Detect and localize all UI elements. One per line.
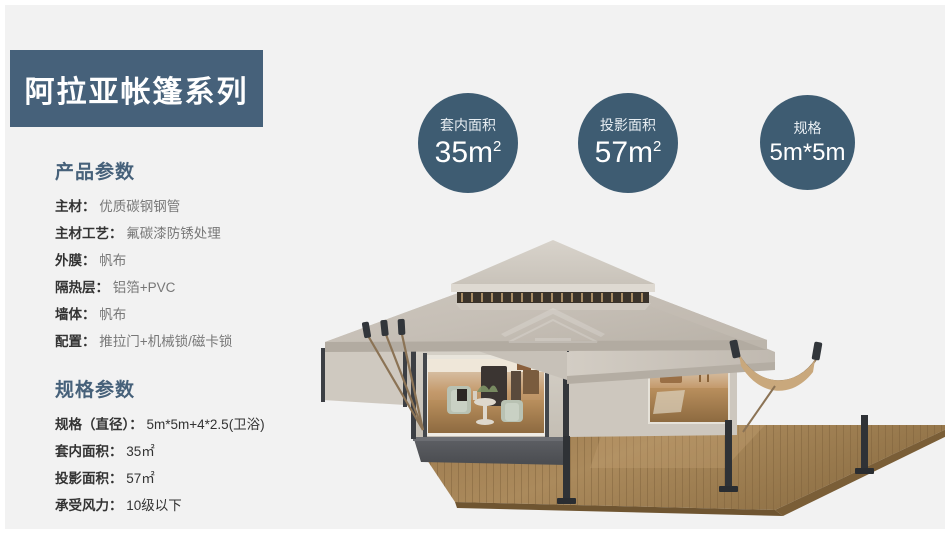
stat-badge-value: 57m2: [595, 138, 662, 168]
spec-label: 主材：: [55, 199, 96, 214]
spec-value: 帆布: [99, 307, 126, 322]
stat-badge-value: 35m2: [435, 138, 502, 168]
roof-vent-tier: [451, 240, 655, 310]
spec-value: 氟碳漆防锈处理: [126, 226, 221, 241]
spec-value: 推拉门+机械锁/磁卡锁: [99, 334, 232, 349]
stat-badge-value: 5m*5m: [769, 141, 845, 165]
spec-label: 外膜：: [55, 253, 96, 268]
spec-label: 规格（直径）：: [55, 417, 143, 432]
spec-label: 承受风力：: [55, 498, 123, 513]
stat-value-number: 5m*5m: [769, 139, 845, 166]
spec-value: 铝箔+PVC: [113, 280, 176, 295]
spec-label: 配置：: [55, 334, 96, 349]
spec-value: 10级以下: [126, 498, 182, 513]
stone-base: [413, 436, 567, 465]
stat-value-unit: m: [628, 136, 653, 169]
stat-badge-label: 规格: [794, 121, 822, 135]
spec-label: 隔热层：: [55, 280, 109, 295]
stat-badge-label: 套内面积: [440, 118, 496, 132]
spec-label: 套内面积：: [55, 444, 123, 459]
stat-value-exponent: 2: [653, 138, 661, 155]
spec-value: 帆布: [99, 253, 126, 268]
stat-value-number: 57: [595, 136, 628, 169]
tent-illustration: [305, 240, 950, 520]
spec-value: 优质碳钢钢管: [99, 199, 180, 214]
stat-value-number: 35: [435, 136, 468, 169]
spec-row: 主材： 优质碳钢钢管: [55, 193, 355, 220]
stat-badge-size: 规格 5m*5m: [760, 95, 855, 190]
spec-value: 57㎡: [126, 471, 155, 486]
spec-label: 主材工艺：: [55, 226, 123, 241]
product-params-heading: 产品参数: [55, 157, 355, 184]
spec-label: 投影面积：: [55, 471, 123, 486]
page-title-banner: 阿拉亚帐篷系列: [10, 50, 263, 127]
spec-value: 5m*5m+4*2.5(卫浴): [147, 417, 265, 432]
stat-badge-label: 投影面积: [600, 118, 656, 132]
page-title: 阿拉亚帐篷系列: [25, 67, 249, 111]
stat-badge-projected-area: 投影面积 57m2: [578, 93, 678, 193]
stat-badge-interior-area: 套内面积 35m2: [418, 93, 518, 193]
stat-value-unit: m: [468, 136, 493, 169]
stat-value-exponent: 2: [493, 138, 501, 155]
spec-value: 35㎡: [126, 444, 155, 459]
spec-label: 墙体：: [55, 307, 96, 322]
page-root: 阿拉亚帐篷系列 产品参数 主材： 优质碳钢钢管 主材工艺： 氟碳漆防锈处理 外膜…: [0, 0, 950, 534]
